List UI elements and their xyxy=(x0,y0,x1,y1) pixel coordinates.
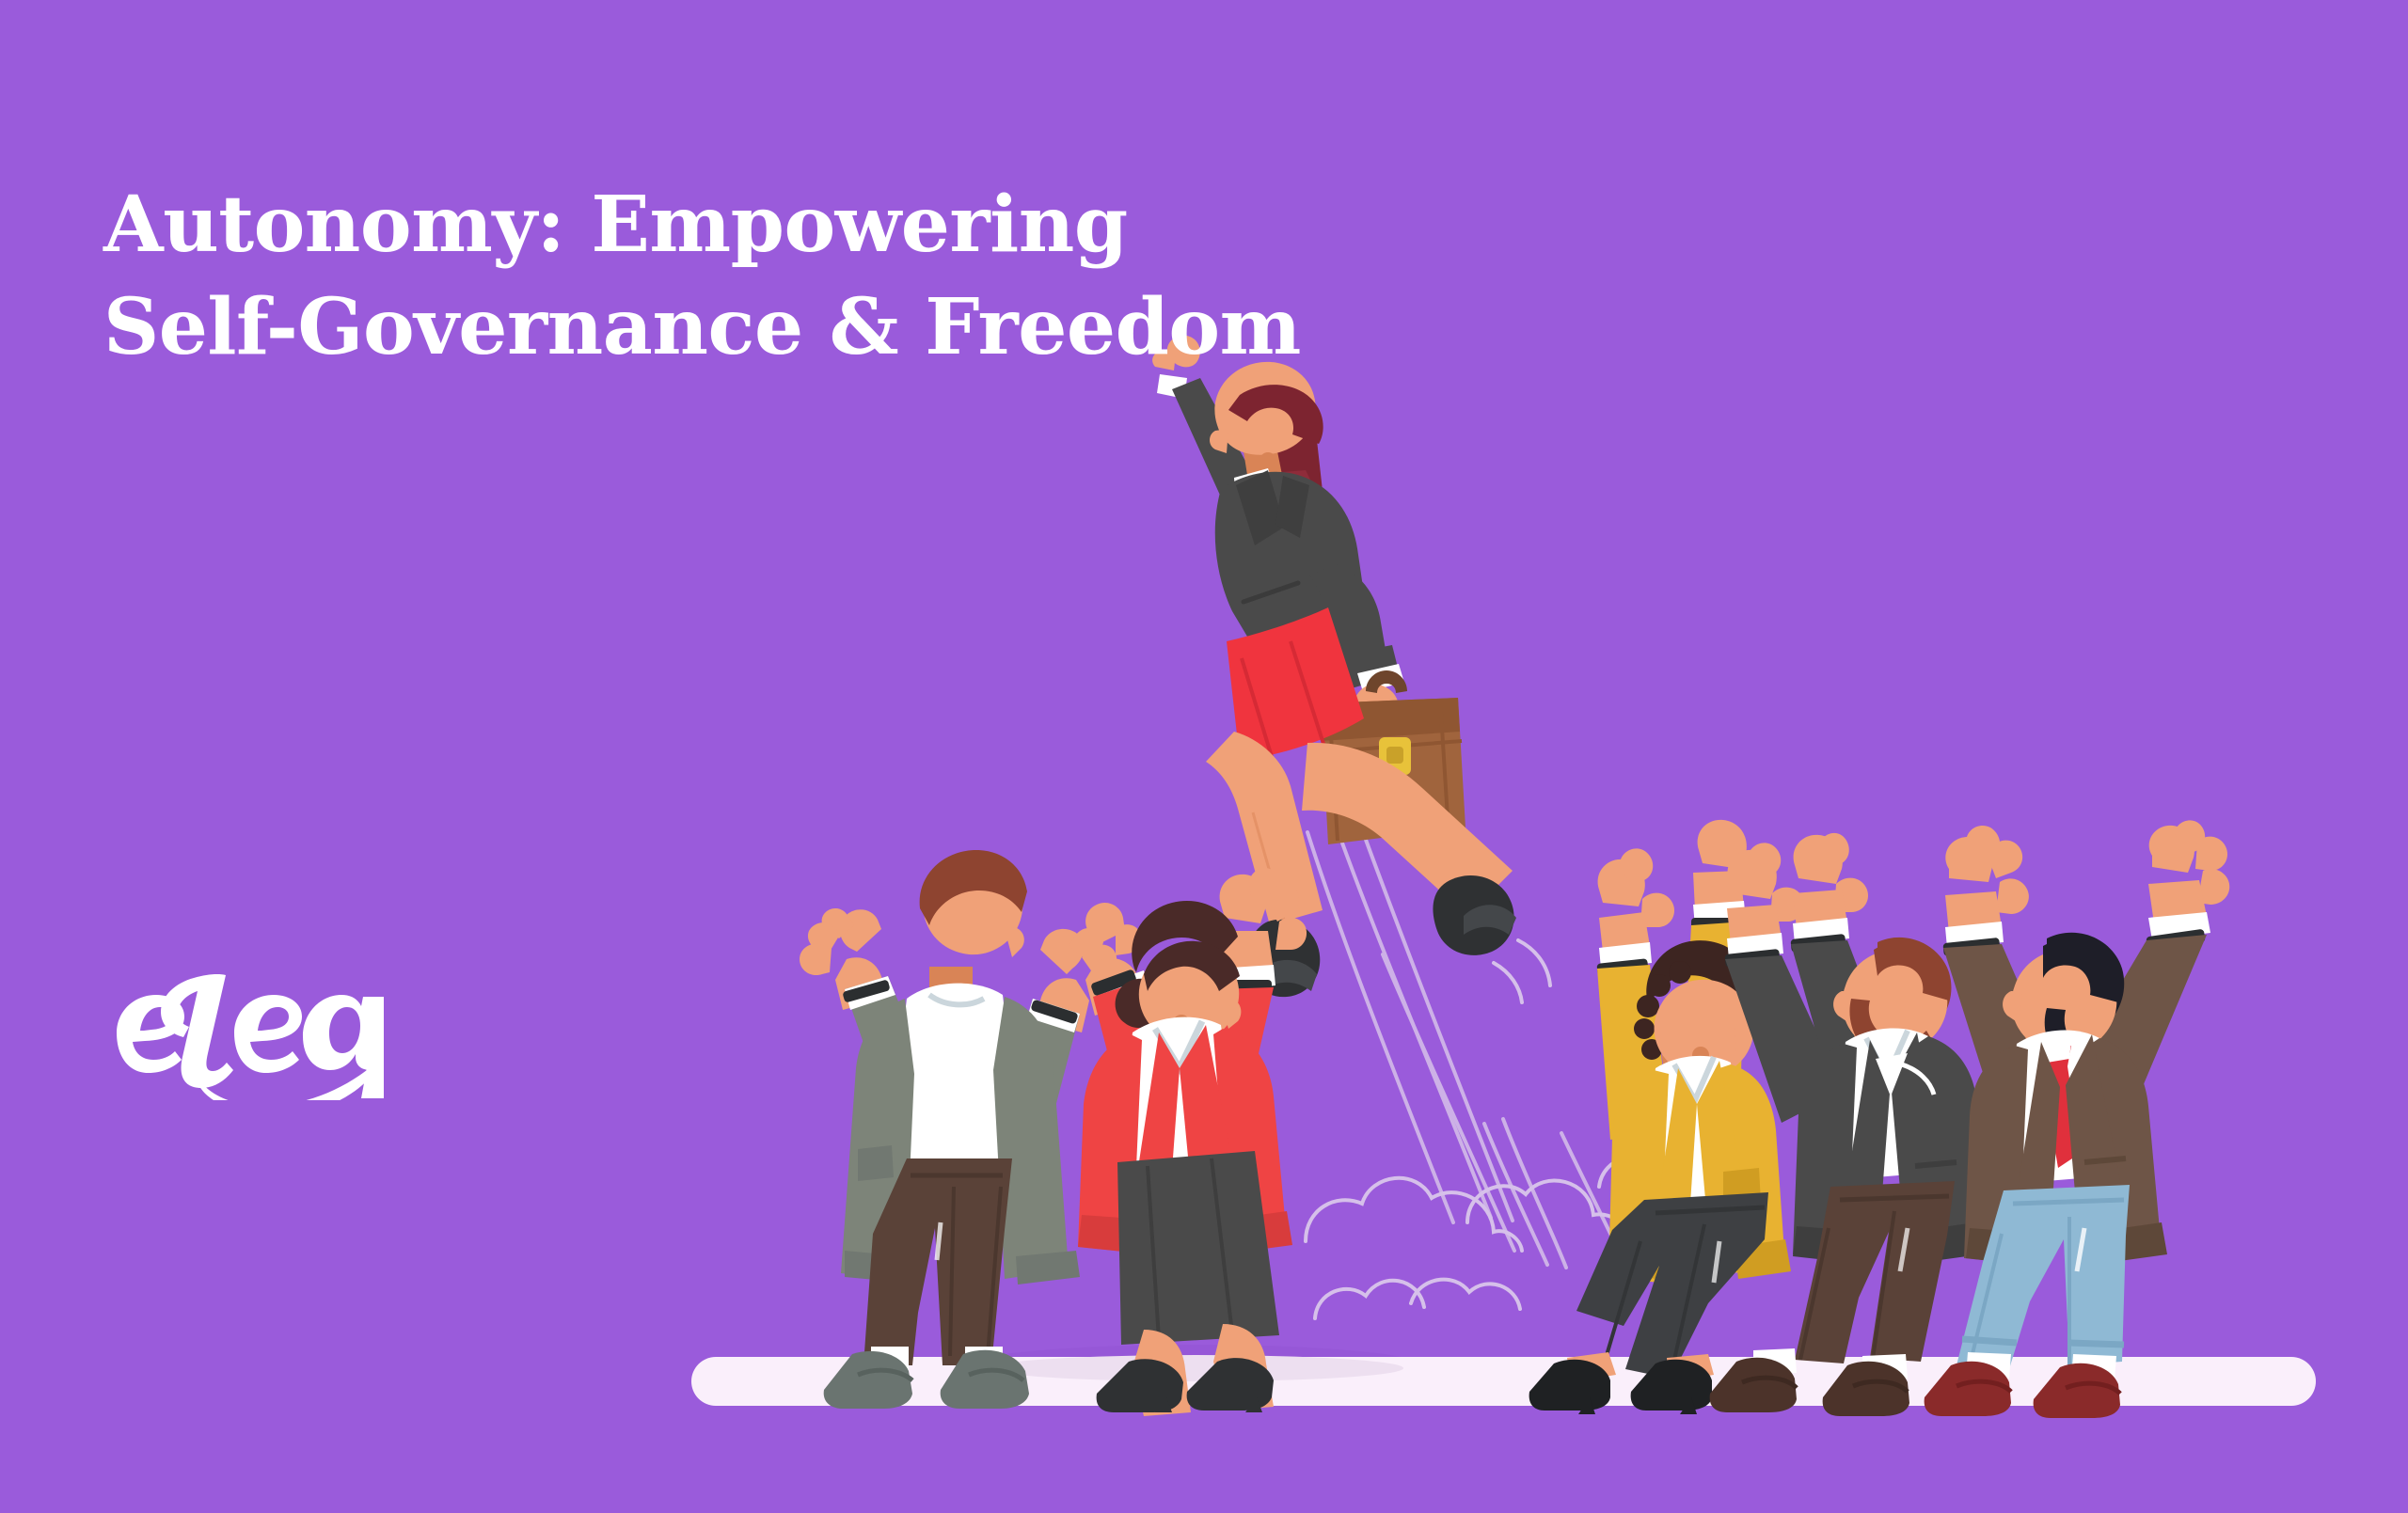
eleap-logo-icon xyxy=(102,959,384,1100)
slide-canvas: Autonomy: Empowering Self-Governance & F… xyxy=(0,0,2408,1513)
eleap-logo[interactable]: eLeap xyxy=(102,959,384,1100)
page-title: Autonomy: Empowering Self-Governance & F… xyxy=(103,174,1514,379)
